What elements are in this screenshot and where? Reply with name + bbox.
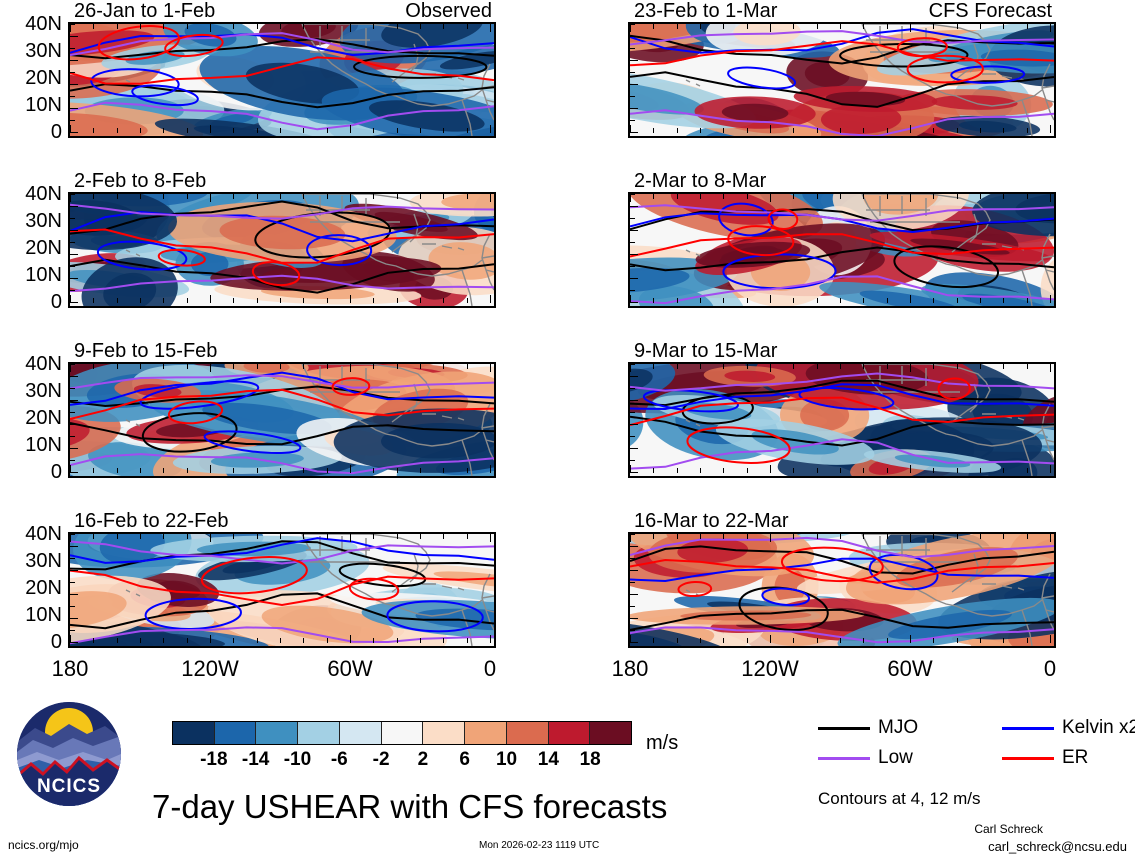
x-tick <box>163 638 164 643</box>
x-tick <box>350 194 351 202</box>
y-axis-label: 30N <box>0 381 62 401</box>
panel-title: 9-Feb to 15-Feb <box>74 341 217 361</box>
map-panel <box>628 532 1056 648</box>
x-tick <box>1050 635 1051 643</box>
x-tick <box>257 194 258 199</box>
colorbar-segment <box>256 722 298 744</box>
x-tick <box>350 24 351 32</box>
x-tick <box>910 125 911 133</box>
x-tick <box>980 128 981 133</box>
x-tick <box>653 534 654 539</box>
y-tick <box>70 546 78 547</box>
x-tick <box>980 638 981 643</box>
y-tick <box>70 96 75 97</box>
x-tick <box>93 128 94 133</box>
x-tick <box>187 364 188 369</box>
x-tick <box>957 298 958 303</box>
legend-swatch-mjo <box>818 727 870 730</box>
x-tick <box>653 298 654 303</box>
x-tick <box>840 298 841 303</box>
x-tick <box>303 24 304 29</box>
y-tick <box>630 206 638 207</box>
x-tick <box>70 194 71 202</box>
x-tick <box>327 364 328 369</box>
x-tick <box>420 534 421 539</box>
x-tick <box>373 24 374 29</box>
x-tick <box>933 638 934 643</box>
x-tick <box>1050 465 1051 473</box>
y-tick <box>630 24 635 25</box>
x-tick <box>630 364 631 372</box>
x-tick <box>257 298 258 303</box>
x-tick <box>1027 468 1028 473</box>
x-tick <box>980 194 981 199</box>
x-tick <box>863 128 864 133</box>
y-tick <box>630 84 638 85</box>
y-tick <box>70 278 78 279</box>
x-tick <box>327 128 328 133</box>
x-tick <box>817 194 818 199</box>
y-tick <box>630 630 635 631</box>
y-tick <box>630 472 638 473</box>
x-tick <box>840 24 841 29</box>
colorbar-segment <box>215 722 257 744</box>
x-tick <box>840 468 841 473</box>
x-tick <box>933 298 934 303</box>
y-axis-label: 30N <box>0 211 62 231</box>
x-tick <box>443 534 444 539</box>
map-panel <box>68 192 496 308</box>
y-axis-label: 30N <box>0 41 62 61</box>
x-tick <box>350 635 351 643</box>
x-tick <box>630 194 631 202</box>
x-tick <box>723 298 724 303</box>
x-tick <box>117 194 118 199</box>
y-tick <box>630 400 638 401</box>
y-tick <box>630 376 638 377</box>
x-tick <box>257 24 258 29</box>
x-tick <box>373 364 374 369</box>
x-tick <box>840 194 841 199</box>
x-tick <box>303 468 304 473</box>
y-axis-label: 20N <box>0 68 62 88</box>
x-tick <box>863 364 864 369</box>
x-tick <box>1050 24 1051 32</box>
x-tick <box>933 468 934 473</box>
x-tick <box>467 468 468 473</box>
x-tick <box>280 534 281 539</box>
x-tick <box>677 24 678 29</box>
x-tick <box>140 534 141 539</box>
x-tick <box>910 465 911 473</box>
panel-title: 26-Jan to 1-Feb <box>74 1 215 21</box>
colorbar-segment <box>173 722 215 744</box>
x-tick <box>840 128 841 133</box>
x-axis-label: 180 <box>570 658 690 680</box>
x-tick <box>770 194 771 202</box>
x-axis-label: 120W <box>150 658 270 680</box>
y-tick <box>630 424 638 425</box>
x-tick <box>793 468 794 473</box>
x-axis-label: 0 <box>990 658 1110 680</box>
x-tick <box>210 534 211 542</box>
x-tick <box>327 298 328 303</box>
x-tick <box>817 24 818 29</box>
y-tick <box>630 48 635 49</box>
colorbar-segment <box>549 722 591 744</box>
x-tick <box>280 298 281 303</box>
x-tick <box>397 298 398 303</box>
x-tick <box>420 298 421 303</box>
y-tick <box>70 36 78 37</box>
x-tick <box>443 298 444 303</box>
author-name: Carl Schreck <box>974 823 1043 836</box>
x-tick <box>467 128 468 133</box>
x-tick <box>70 24 71 32</box>
y-axis-label: 10N <box>0 605 62 625</box>
colorbar <box>172 721 632 745</box>
x-tick <box>957 128 958 133</box>
map-panel <box>628 22 1056 138</box>
map-panel <box>68 362 496 478</box>
y-tick <box>70 460 75 461</box>
x-tick <box>327 194 328 199</box>
x-tick <box>280 468 281 473</box>
x-tick <box>677 364 678 369</box>
x-tick <box>117 468 118 473</box>
x-tick <box>280 638 281 643</box>
y-tick <box>70 448 78 449</box>
y-tick <box>630 302 638 303</box>
x-tick <box>910 635 911 643</box>
x-tick <box>117 298 118 303</box>
x-tick <box>467 638 468 643</box>
x-tick <box>1050 534 1051 542</box>
x-tick <box>863 298 864 303</box>
legend-label: MJO <box>878 718 918 737</box>
x-axis-label: 60W <box>290 658 410 680</box>
x-tick <box>653 364 654 369</box>
x-tick <box>397 128 398 133</box>
x-tick <box>490 295 491 303</box>
x-tick <box>817 128 818 133</box>
main-title: 7-day USHEAR with CFS forecasts <box>152 790 667 823</box>
x-tick <box>163 468 164 473</box>
x-tick <box>93 194 94 199</box>
y-tick <box>70 302 78 303</box>
y-tick <box>630 364 635 365</box>
legend-label: Kelvin x2 <box>1062 718 1135 737</box>
x-tick <box>233 534 234 539</box>
x-tick <box>350 534 351 542</box>
x-tick <box>1050 295 1051 303</box>
x-tick <box>233 364 234 369</box>
x-tick <box>747 638 748 643</box>
x-tick <box>210 635 211 643</box>
y-tick <box>630 412 635 413</box>
render-timestamp: Mon 2026-02-23 1119 UTC <box>479 841 599 851</box>
x-tick <box>957 194 958 199</box>
x-tick <box>1050 125 1051 133</box>
y-tick <box>70 606 75 607</box>
y-tick <box>630 108 638 109</box>
x-tick <box>93 24 94 29</box>
y-axis-label: 30N <box>0 551 62 571</box>
x-tick <box>630 534 631 542</box>
y-tick <box>630 266 635 267</box>
y-axis-label: 20N <box>0 408 62 428</box>
x-tick <box>117 638 118 643</box>
x-tick <box>303 364 304 369</box>
x-tick <box>957 534 958 539</box>
legend-swatch-low <box>818 757 870 760</box>
x-tick <box>770 534 771 542</box>
y-tick <box>630 242 635 243</box>
y-tick <box>70 412 75 413</box>
x-tick <box>163 24 164 29</box>
y-tick <box>630 132 638 133</box>
x-tick <box>210 194 211 202</box>
x-tick <box>210 295 211 303</box>
colorbar-units-label: m/s <box>646 733 678 753</box>
x-tick <box>1003 364 1004 369</box>
x-tick <box>443 24 444 29</box>
x-tick <box>910 194 911 202</box>
x-tick <box>887 468 888 473</box>
x-tick <box>700 364 701 369</box>
y-axis-label: 40N <box>0 184 62 204</box>
x-tick <box>863 468 864 473</box>
x-tick <box>933 364 934 369</box>
y-tick <box>630 582 635 583</box>
x-tick <box>350 125 351 133</box>
x-tick <box>467 364 468 369</box>
x-tick <box>490 194 491 202</box>
y-axis-label: 20N <box>0 238 62 258</box>
x-tick <box>397 638 398 643</box>
x-tick <box>140 128 141 133</box>
author-email[interactable]: carl_schreck@ncsu.edu <box>988 840 1127 853</box>
panel-title: 16-Mar to 22-Mar <box>634 511 789 531</box>
x-tick <box>933 128 934 133</box>
x-tick <box>817 468 818 473</box>
x-tick <box>933 194 934 199</box>
y-axis-label: 40N <box>0 524 62 544</box>
x-axis-label: 0 <box>430 658 550 680</box>
x-tick <box>350 465 351 473</box>
x-tick <box>793 298 794 303</box>
x-tick <box>233 468 234 473</box>
x-tick <box>187 24 188 29</box>
x-tick <box>233 194 234 199</box>
y-tick <box>630 96 635 97</box>
x-axis-label: 180 <box>10 658 130 680</box>
colorbar-segment <box>507 722 549 744</box>
x-tick <box>443 364 444 369</box>
ncics-logo-text: NCICS <box>17 776 121 798</box>
x-tick <box>397 468 398 473</box>
y-tick <box>630 194 635 195</box>
x-tick <box>397 194 398 199</box>
y-tick <box>70 120 75 121</box>
x-tick <box>373 194 374 199</box>
x-tick <box>420 364 421 369</box>
x-tick <box>327 468 328 473</box>
x-tick <box>257 364 258 369</box>
x-tick <box>280 194 281 199</box>
x-tick <box>653 194 654 199</box>
x-tick <box>980 468 981 473</box>
y-tick <box>630 290 635 291</box>
y-tick <box>630 230 638 231</box>
y-axis-label: 0 <box>0 122 62 142</box>
x-tick <box>210 465 211 473</box>
x-tick <box>420 24 421 29</box>
x-tick <box>723 468 724 473</box>
y-tick <box>70 558 75 559</box>
y-tick <box>70 642 78 643</box>
x-tick <box>257 128 258 133</box>
y-tick <box>70 376 78 377</box>
x-tick <box>187 638 188 643</box>
x-tick <box>817 298 818 303</box>
x-tick <box>700 298 701 303</box>
x-tick <box>257 468 258 473</box>
x-tick <box>187 128 188 133</box>
x-tick <box>327 24 328 29</box>
x-tick <box>1027 194 1028 199</box>
y-tick <box>630 278 638 279</box>
y-tick <box>70 534 75 535</box>
x-tick <box>723 24 724 29</box>
y-tick <box>70 424 78 425</box>
x-tick <box>303 128 304 133</box>
x-tick <box>420 194 421 199</box>
x-tick <box>187 468 188 473</box>
panel-title: 2-Mar to 8-Mar <box>634 171 766 191</box>
y-tick <box>630 60 638 61</box>
y-tick <box>630 594 638 595</box>
x-tick <box>490 635 491 643</box>
colorbar-segment <box>298 722 340 744</box>
y-axis-label: 0 <box>0 462 62 482</box>
y-axis-label: 10N <box>0 435 62 455</box>
x-tick <box>280 364 281 369</box>
y-tick <box>630 254 638 255</box>
y-tick <box>70 132 78 133</box>
site-link[interactable]: ncics.org/mjo <box>8 840 79 850</box>
x-tick <box>1003 298 1004 303</box>
x-tick <box>140 638 141 643</box>
y-tick <box>630 436 635 437</box>
x-tick <box>373 638 374 643</box>
map-panel <box>628 362 1056 478</box>
map-panel <box>628 192 1056 308</box>
legend-swatch-kelvin-x2 <box>1002 727 1054 730</box>
ncics-logo[interactable]: NCICS <box>17 702 121 806</box>
y-axis-label: 40N <box>0 354 62 374</box>
x-tick <box>303 298 304 303</box>
x-tick <box>70 364 71 372</box>
x-tick <box>770 364 771 372</box>
x-tick <box>443 194 444 199</box>
y-tick <box>630 618 638 619</box>
x-tick <box>373 468 374 473</box>
y-tick <box>70 582 75 583</box>
x-tick <box>233 638 234 643</box>
y-tick <box>70 364 75 365</box>
x-tick <box>490 125 491 133</box>
x-tick <box>490 24 491 32</box>
y-tick <box>630 218 635 219</box>
y-tick <box>630 642 638 643</box>
x-tick <box>840 638 841 643</box>
x-tick <box>887 534 888 539</box>
x-tick <box>653 24 654 29</box>
x-tick <box>93 364 94 369</box>
x-tick <box>957 638 958 643</box>
y-tick <box>70 108 78 109</box>
x-tick <box>327 534 328 539</box>
x-tick <box>70 534 71 542</box>
x-tick <box>723 194 724 199</box>
x-tick <box>840 534 841 539</box>
x-tick <box>653 638 654 643</box>
x-tick <box>140 468 141 473</box>
x-tick <box>443 468 444 473</box>
panel-title: 16-Feb to 22-Feb <box>74 511 229 531</box>
x-tick <box>443 128 444 133</box>
x-tick <box>210 364 211 372</box>
x-tick <box>397 534 398 539</box>
x-tick <box>1003 128 1004 133</box>
y-tick <box>70 60 78 61</box>
x-tick <box>1003 534 1004 539</box>
x-tick <box>140 364 141 369</box>
x-tick <box>443 638 444 643</box>
contours-note: Contours at 4, 12 m/s <box>818 790 981 807</box>
column-header: Observed <box>405 1 492 21</box>
x-tick <box>163 364 164 369</box>
x-tick <box>233 128 234 133</box>
x-tick <box>490 534 491 542</box>
x-tick <box>210 125 211 133</box>
y-tick <box>630 448 638 449</box>
x-tick <box>467 194 468 199</box>
y-axis-label: 20N <box>0 578 62 598</box>
x-tick <box>490 364 491 372</box>
x-tick <box>233 298 234 303</box>
colorbar-tick-label: 18 <box>560 750 620 769</box>
x-tick <box>280 24 281 29</box>
y-tick <box>70 266 75 267</box>
y-tick <box>70 254 78 255</box>
x-tick <box>257 638 258 643</box>
x-tick <box>420 128 421 133</box>
x-tick <box>770 465 771 473</box>
x-tick <box>140 194 141 199</box>
map-panel <box>68 22 496 138</box>
map-panel <box>68 532 496 648</box>
y-tick <box>630 36 638 37</box>
panel-title: 2-Feb to 8-Feb <box>74 171 206 191</box>
y-tick <box>70 194 75 195</box>
x-axis-label: 60W <box>850 658 970 680</box>
y-tick <box>630 558 635 559</box>
y-tick <box>70 290 75 291</box>
y-axis-label: 0 <box>0 632 62 652</box>
x-tick <box>700 534 701 539</box>
